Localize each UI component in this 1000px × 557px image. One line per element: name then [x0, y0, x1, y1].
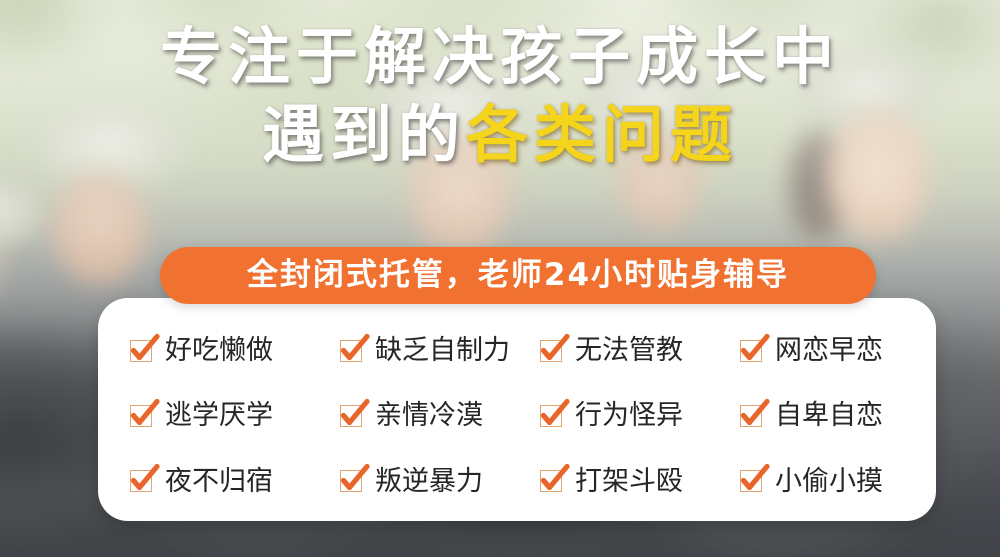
- promo-poster: 专注于解决孩子成长中 遇到的各类问题 全封闭式托管，老师24小时贴身辅导 好吃懒…: [0, 0, 1000, 557]
- headline-line-1: 专注于解决孩子成长中: [0, 26, 1000, 88]
- checklist-item-label: 好吃懒做: [165, 337, 273, 364]
- checked-checkbox-icon[interactable]: [540, 403, 566, 429]
- checked-checkbox-icon[interactable]: [340, 468, 366, 494]
- headline-line-2-accent: 各类问题: [466, 98, 738, 171]
- checklist-item[interactable]: 好吃懒做: [130, 318, 340, 383]
- checklist-item[interactable]: 叛逆暴力: [340, 449, 540, 514]
- checked-checkbox-icon[interactable]: [340, 403, 366, 429]
- service-banner-text: 全封闭式托管，老师24小时贴身辅导: [247, 260, 789, 291]
- checklist-item-label: 小偷小摸: [775, 468, 883, 495]
- checklist-item-label: 无法管教: [575, 337, 683, 364]
- checklist-item[interactable]: 打架斗殴: [540, 449, 740, 514]
- headline-line-2: 遇到的各类问题: [0, 104, 1000, 166]
- checked-checkbox-icon[interactable]: [740, 468, 766, 494]
- checklist-item[interactable]: 缺乏自制力: [340, 318, 540, 383]
- checklist-item[interactable]: 无法管教: [540, 318, 740, 383]
- checklist-item[interactable]: 行为怪异: [540, 383, 740, 448]
- checklist-item-label: 逃学厌学: [165, 402, 273, 429]
- checked-checkbox-icon[interactable]: [740, 403, 766, 429]
- checked-checkbox-icon[interactable]: [340, 338, 366, 364]
- checklist-item[interactable]: 逃学厌学: [130, 383, 340, 448]
- checked-checkbox-icon[interactable]: [540, 468, 566, 494]
- headline-line-2-plain: 遇到的: [262, 98, 466, 171]
- checklist-item[interactable]: 小偷小摸: [740, 449, 940, 514]
- checked-checkbox-icon[interactable]: [130, 403, 156, 429]
- checked-checkbox-icon[interactable]: [540, 338, 566, 364]
- checked-checkbox-icon[interactable]: [740, 338, 766, 364]
- checklist-item[interactable]: 网恋早恋: [740, 318, 940, 383]
- checklist-item-label: 缺乏自制力: [375, 337, 510, 364]
- checklist-item-label: 行为怪异: [575, 402, 683, 429]
- checklist-item-label: 打架斗殴: [575, 468, 683, 495]
- checked-checkbox-icon[interactable]: [130, 338, 156, 364]
- checked-checkbox-icon[interactable]: [130, 468, 156, 494]
- service-banner: 全封闭式托管，老师24小时贴身辅导: [160, 247, 876, 304]
- headline-group: 专注于解决孩子成长中 遇到的各类问题: [0, 26, 1000, 166]
- checklist-item-label: 亲情冷漠: [375, 402, 483, 429]
- checklist-item-label: 网恋早恋: [775, 337, 883, 364]
- checklist-item-label: 夜不归宿: [165, 468, 273, 495]
- checklist-item[interactable]: 自卑自恋: [740, 383, 940, 448]
- checklist-item[interactable]: 夜不归宿: [130, 449, 340, 514]
- checklist-item-label: 自卑自恋: [775, 402, 883, 429]
- problem-checklist: 好吃懒做缺乏自制力无法管教网恋早恋逃学厌学亲情冷漠行为怪异自卑自恋夜不归宿叛逆暴…: [98, 318, 936, 514]
- checklist-item[interactable]: 亲情冷漠: [340, 383, 540, 448]
- checklist-item-label: 叛逆暴力: [375, 468, 483, 495]
